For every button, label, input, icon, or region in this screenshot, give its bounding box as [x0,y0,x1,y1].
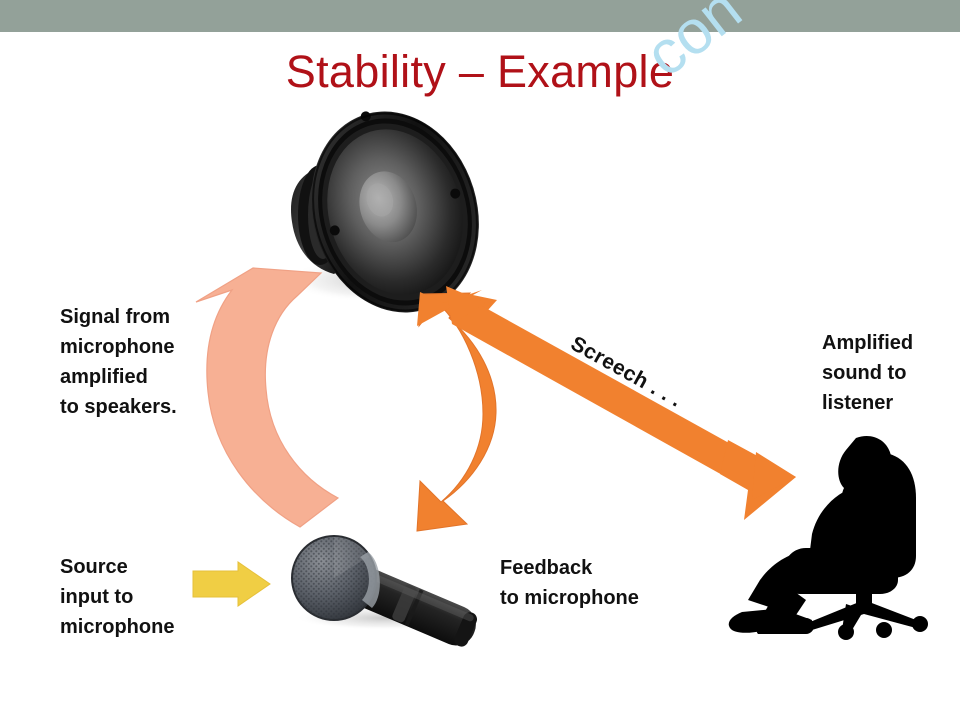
screech-to-listener-arrow [446,286,796,520]
label-amplified-sound: Amplified sound to listener [822,328,913,418]
microphone-icon [292,536,482,651]
signal-to-speaker-arrow [196,268,338,527]
slide-canvas: Stability – Example con [0,0,960,720]
source-input-arrow [193,562,270,606]
label-source-input: Source input to microphone [60,552,174,642]
label-feedback-to-microphone: Feedback to microphone [500,553,639,613]
label-signal-from-microphone: Signal from microphone amplified to spea… [60,302,177,422]
